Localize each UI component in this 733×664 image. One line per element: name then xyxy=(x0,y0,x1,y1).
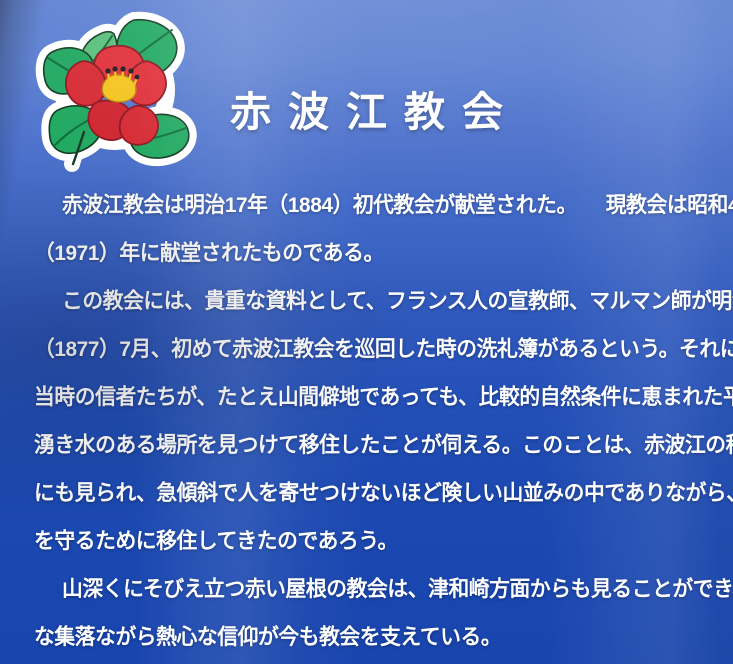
text-run: この教会には、貴重な資料として、フランス人の宣教師、マルマン師が明治10年 xyxy=(62,289,733,313)
text-run: 山深くにそびえ立つ赤い屋根の教会は、津和崎方面からも見ることができ、小さ xyxy=(62,577,733,601)
text-run: にも見られ、急傾斜で人を寄せつけないほど険しい山並みの中でありながら、信仰 xyxy=(34,481,733,505)
text-run: 湧き水のある場所を見つけて移住したことが伺える。このことは、赤波江の移住者 xyxy=(34,433,733,457)
text-run: な集落ながら熱心な信仰が今も教会を支えている。 xyxy=(34,625,501,649)
text-line: にも見られ、急傾斜で人を寄せつけないほど険しい山並みの中でありながら、信仰 xyxy=(34,469,682,517)
text-line: な集落ながら熱心な信仰が今も教会を支えている。 xyxy=(34,613,682,661)
text-line: 山深くにそびえ立つ赤い屋根の教会は、津和崎方面からも見ることができ、小さ xyxy=(34,565,682,613)
text-line: 赤波江教会は明治17年（1884）初代教会が献堂された。現教会は昭和46年 xyxy=(34,181,682,229)
text-line: （1877）7月、初めて赤波江教会を巡回した時の洗礼簿があるという。それによると… xyxy=(34,325,682,373)
text-line: （1971）年に献堂されたものである。 xyxy=(34,229,682,277)
text-line: 湧き水のある場所を見つけて移住したことが伺える。このことは、赤波江の移住者 xyxy=(34,421,682,469)
text-run: 現教会は昭和46年 xyxy=(606,193,733,217)
camellia-flower-logo xyxy=(22,6,208,172)
text-line: 当時の信者たちが、たとえ山間僻地であっても、比較的自然条件に恵まれた平地と xyxy=(34,373,682,421)
text-run: 赤波江教会は明治17年（1884）初代教会が献堂された。 xyxy=(62,193,577,217)
text-run: （1877）7月、初めて赤波江教会を巡回した時の洗礼簿があるという。それによると… xyxy=(34,337,733,361)
text-line: を守るために移住してきたのであろう。 xyxy=(34,517,682,565)
text-run: 当時の信者たちが、たとえ山間僻地であっても、比較的自然条件に恵まれた平地と xyxy=(34,385,733,409)
text-line: この教会には、貴重な資料として、フランス人の宣教師、マルマン師が明治10年 xyxy=(34,277,682,325)
text-run: （1971）年に献堂されたものである。 xyxy=(34,241,384,265)
sign-title: 赤波江教会 xyxy=(0,92,733,133)
information-sign-panel: 赤波江教会 赤波江教会は明治17年（1884）初代教会が献堂された。現教会は昭和… xyxy=(0,0,733,664)
text-run: を守るために移住してきたのであろう。 xyxy=(34,529,398,553)
sign-body-text: 赤波江教会は明治17年（1884）初代教会が献堂された。現教会は昭和46年（19… xyxy=(34,181,706,661)
